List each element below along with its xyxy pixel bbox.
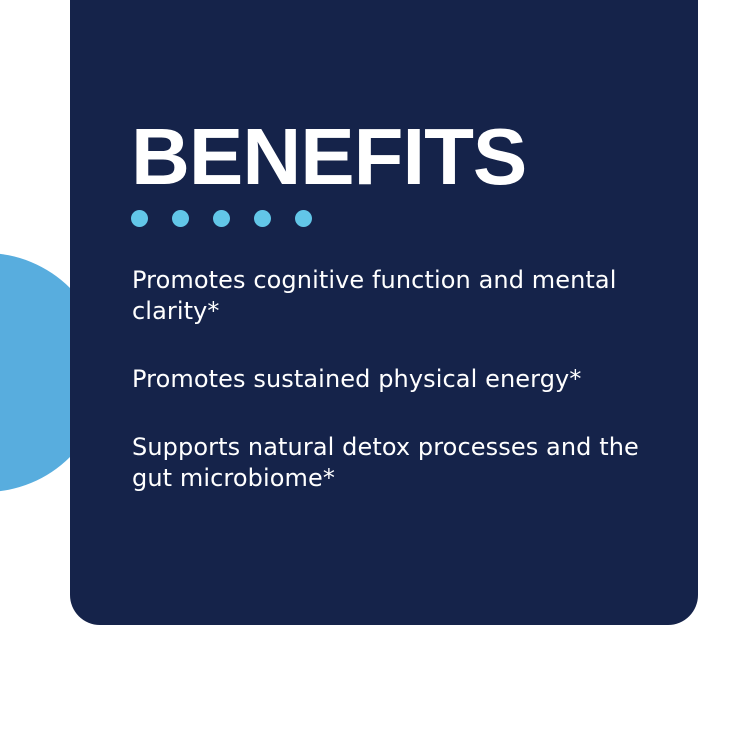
benefits-graphic: BENEFITS Promotes cognitive function and… — [0, 0, 750, 750]
dot-icon — [295, 210, 312, 227]
benefits-card: BENEFITS Promotes cognitive function and… — [70, 0, 698, 625]
page-title: BENEFITS — [131, 117, 526, 197]
dot-icon — [213, 210, 230, 227]
benefit-item: Supports natural detox processes and the… — [132, 432, 660, 494]
dot-icon — [131, 210, 148, 227]
benefit-item: Promotes sustained physical energy* — [132, 364, 660, 395]
benefit-list: Promotes cognitive function and mental c… — [132, 265, 660, 494]
dot-row-decoration — [131, 210, 312, 227]
benefit-item: Promotes cognitive function and mental c… — [132, 265, 660, 327]
card-content: BENEFITS Promotes cognitive function and… — [131, 0, 674, 625]
dot-icon — [254, 210, 271, 227]
dot-icon — [172, 210, 189, 227]
